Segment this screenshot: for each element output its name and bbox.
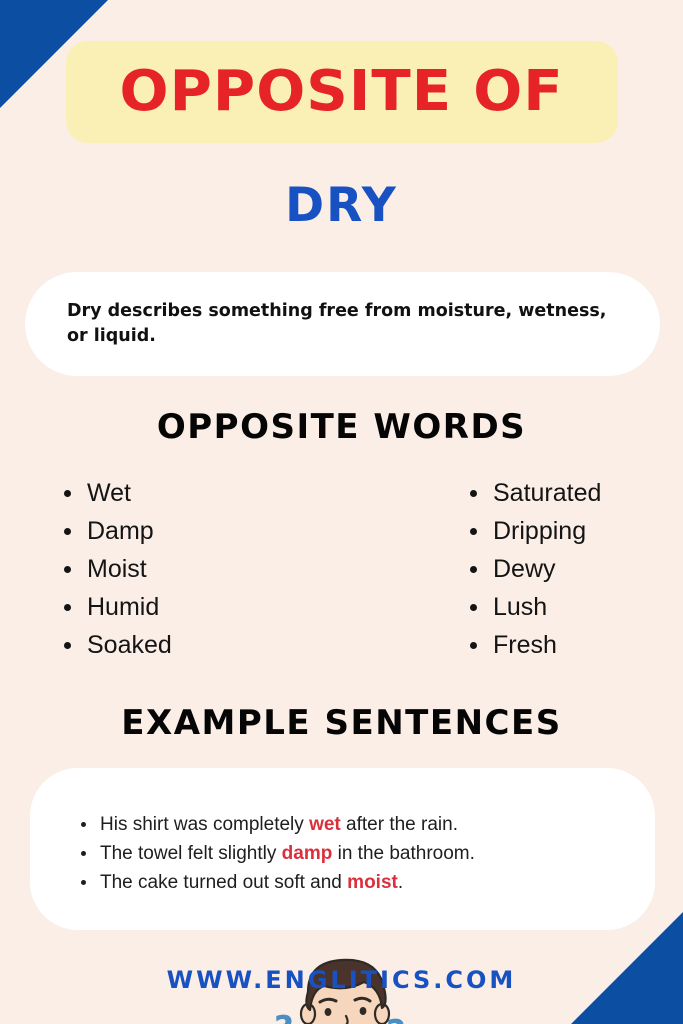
sentence-before: The cake turned out soft and [100,872,347,893]
sentence-highlight: damp [282,843,333,864]
opposite-words-area: Wet Damp Moist Humid Soaked Saturated Dr… [0,474,683,670]
list-item: Soaked [60,626,172,664]
definition-text: Dry describes something free from moistu… [25,299,660,350]
list-item: Damp [60,512,172,550]
list-item: Moist [60,550,172,588]
list-item: The cake turned out soft and moist. [78,868,475,897]
list-item: His shirt was completely wet after the r… [78,810,475,839]
list-item: Fresh [466,626,601,664]
infographic-poster: OPPOSITE OF DRY Dry describes something … [0,0,683,1024]
example-sentences-list: His shirt was completely wet after the r… [78,810,475,897]
opposite-words-right-column: Saturated Dripping Dewy Lush Fresh [466,474,601,664]
footer-website: WWW.ENGLITICS.COM [0,966,683,994]
subtitle-word: DRY [0,182,683,229]
list-item: Wet [60,474,172,512]
opposite-words-heading: OPPOSITE WORDS [0,410,683,444]
list-item: Dewy [466,550,601,588]
question-mark-left-icon: ? [274,1009,294,1024]
example-sentences-heading: EXAMPLE SENTENCES [0,706,683,740]
title-banner: OPPOSITE OF [66,41,618,143]
list-item: Lush [466,588,601,626]
list-item: Humid [60,588,172,626]
list-item: Saturated [466,474,601,512]
list-item: The towel felt slightly damp in the bath… [78,839,475,868]
sentence-highlight: moist [347,872,398,893]
sentence-highlight: wet [309,814,341,835]
sentence-before: The towel felt slightly [100,843,282,864]
sentence-after: in the bathroom. [332,843,475,864]
sentence-before: His shirt was completely [100,814,309,835]
sentence-after: . [398,872,403,893]
page-title: OPPOSITE OF [120,64,564,120]
sentence-after: after the rain. [341,814,458,835]
definition-card: Dry describes something free from moistu… [25,272,660,376]
list-item: Dripping [466,512,601,550]
example-sentences-card: His shirt was completely wet after the r… [30,768,655,930]
opposite-words-left-column: Wet Damp Moist Humid Soaked [60,474,172,664]
